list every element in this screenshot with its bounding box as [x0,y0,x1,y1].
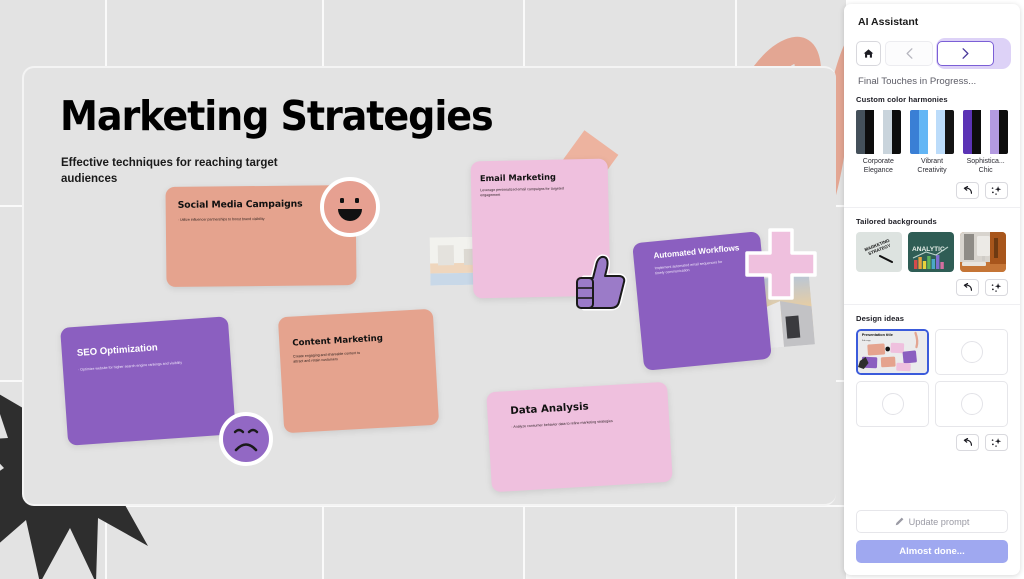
section-design-ideas: Design ideas Presentation title Sub copy [844,304,1020,453]
card-title: SEO Optimization [77,342,159,359]
undo-icon [962,438,973,447]
section-heading: Custom color harmonies [856,95,1008,104]
regenerate-button[interactable] [985,434,1008,451]
background-thumbnails: MARKETING STRATEGY ANALYTIC [856,232,1008,272]
home-icon [863,48,874,59]
back-button[interactable] [885,41,933,66]
card-title: Automated Workflows [653,243,740,260]
undo-button[interactable] [956,434,979,451]
update-prompt-label: Update prompt [909,517,970,527]
card-title: Content Marketing [292,334,383,349]
regenerate-button[interactable] [985,182,1008,199]
loading-spinner [961,341,983,363]
sparkle-icon [991,437,1002,448]
sticky-card-seo-optimization[interactable]: SEO Optimization · Optimize website for … [60,316,236,445]
app-root: Marketing Strategies Effective technique… [0,0,1024,579]
chevron-right-icon [961,48,970,59]
card-title: Email Marketing [480,172,556,184]
palette-swatches [910,110,955,154]
loading-spinner [882,393,904,415]
svg-text:Sub copy: Sub copy [862,340,872,342]
palette-label: Sophistica... Chic [963,157,1008,175]
ideas-action-row [856,434,1008,451]
section-heading: Tailored backgrounds [856,217,1008,226]
primary-action-button[interactable]: Almost done... [856,540,1008,563]
card-body: Leverage personalized email campaigns fo… [480,186,565,199]
palette-sophisticated-chic[interactable]: Sophistica... Chic [963,110,1008,175]
card-title: Data Analysis [510,401,589,417]
card-body: · Analyze consumer behavior data to refi… [511,417,651,431]
update-prompt-button[interactable]: Update prompt [856,510,1008,533]
section-color-harmonies: Custom color harmonies Corporate Eleganc… [844,91,1020,201]
panel-footer: Update prompt Almost done... [844,502,1020,575]
design-ideas-grid: Presentation title Sub copy [856,329,1008,427]
sticky-card-content-marketing[interactable]: Content Marketing Create engaging and sh… [278,309,439,433]
harmonies-action-row [856,182,1008,199]
sparkle-icon [991,185,1002,196]
design-idea-1[interactable]: Presentation title Sub copy [856,329,929,375]
palette-row: Corporate Elegance Vibrant Creativity [856,110,1008,175]
smile-emoji-icon [320,177,380,237]
panel-nav-row [844,36,1020,70]
undo-icon [962,283,973,292]
plus-shape-icon [745,228,817,300]
regenerate-button[interactable] [985,279,1008,296]
sticky-card-data-analysis[interactable]: Data Analysis · Analyze consumer behavio… [486,382,673,493]
background-thumb-desk-workspace[interactable] [960,232,1006,272]
undo-button[interactable] [956,279,979,296]
card-title: Social Media Campaigns [178,199,303,211]
design-idea-3[interactable] [856,381,929,427]
sparkle-icon [991,282,1002,293]
ai-assistant-panel[interactable]: AI Assistant Final Touches in Progress..… [844,4,1020,575]
frown-emoji-icon [219,412,273,466]
background-thumb-marketing-sketch[interactable]: MARKETING STRATEGY [856,232,902,272]
palette-vibrant-creativity[interactable]: Vibrant Creativity [910,110,955,175]
page-title: Marketing Strategies [60,92,493,140]
card-body: Create engaging and shareable content to… [293,351,361,366]
background-thumb-analytics-chalkboard[interactable]: ANALYTIC [908,232,954,272]
pencil-icon [895,517,904,526]
card-body: · Optimize website for higher search eng… [78,358,213,373]
page-subtitle: Effective techniques for reaching target… [61,156,291,187]
status-text: Final Touches in Progress... [844,70,1020,91]
slide-canvas[interactable]: Marketing Strategies Effective technique… [0,0,846,579]
card-body: · Utilize influencer partnerships to boo… [178,216,328,223]
next-button[interactable] [937,41,994,66]
chevron-left-icon [905,48,914,59]
thumbs-up-sticker-icon [568,252,630,314]
undo-button[interactable] [956,182,979,199]
card-body: Implement automated email sequences for … [654,259,733,277]
palette-swatches [856,110,901,154]
section-heading: Design ideas [856,314,1008,323]
design-idea-4[interactable] [935,381,1008,427]
design-idea-2[interactable] [935,329,1008,375]
undo-icon [962,186,973,195]
palette-label: Corporate Elegance [856,157,901,175]
palette-corporate-elegance[interactable]: Corporate Elegance [856,110,901,175]
section-tailored-backgrounds: Tailored backgrounds MARKETING STRATEGY [844,207,1020,298]
loading-spinner [961,393,983,415]
palette-label: Vibrant Creativity [910,157,955,175]
palette-swatches [963,110,1008,154]
backgrounds-action-row [856,279,1008,296]
panel-title: AI Assistant [844,4,1020,36]
home-button[interactable] [856,41,881,66]
svg-text:Presentation title: Presentation title [862,332,894,337]
